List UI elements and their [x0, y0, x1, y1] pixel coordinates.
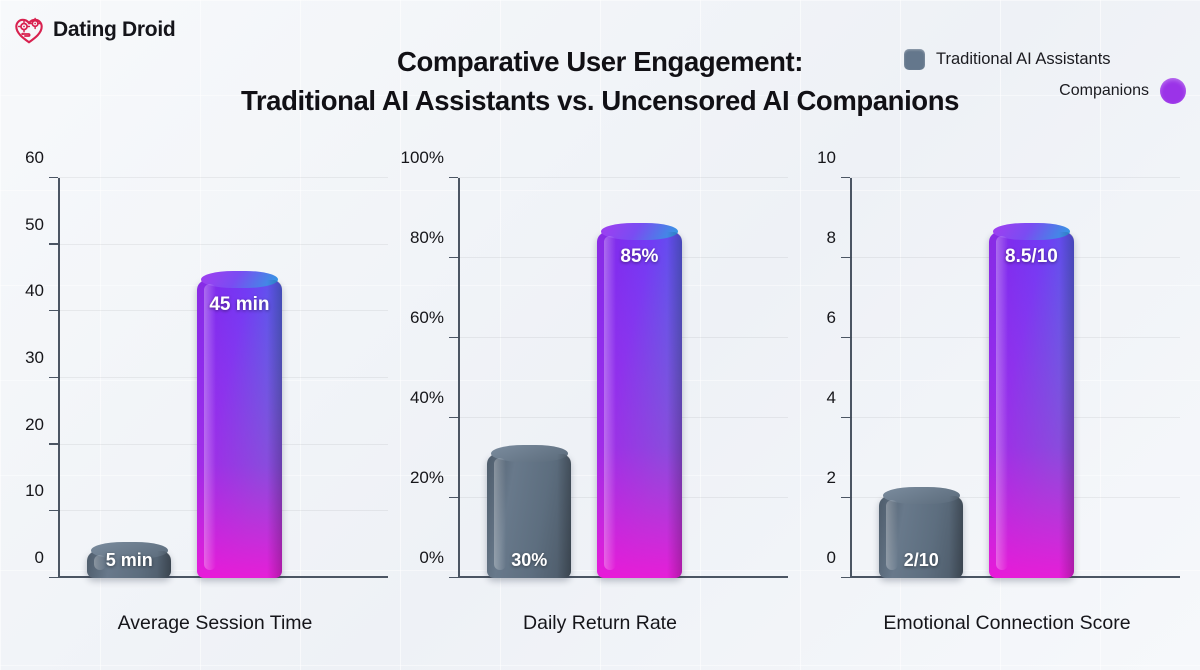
chart-panels: 0102030405060 5 min 45 min Averag — [0, 160, 1200, 660]
legend-item-traditional[interactable]: Traditional AI Assistants — [890, 44, 1190, 75]
chart-panel-average-session-time: 0102030405060 5 min 45 min Averag — [0, 160, 400, 660]
y-tick — [841, 497, 850, 498]
bar-top-face — [993, 223, 1071, 240]
y-tick-label: 0% — [419, 548, 444, 568]
y-tick — [841, 577, 850, 578]
bar-companions-1[interactable]: 45 min — [197, 280, 281, 578]
plot-area-2: 0%20%40%60%80%100% 30% 85% — [458, 178, 782, 578]
plot-area-1: 0102030405060 5 min 45 min — [58, 178, 382, 578]
y-tick-label: 0 — [35, 548, 44, 568]
bar-top-face — [883, 487, 961, 504]
bars-2: 30% 85% — [458, 178, 782, 578]
bar-top-face — [601, 223, 679, 240]
y-tick — [841, 417, 850, 418]
y-tick — [841, 257, 850, 258]
y-tick-label: 10 — [817, 148, 836, 168]
y-tick-label: 60 — [25, 148, 44, 168]
bar-body — [989, 232, 1073, 578]
y-tick-label: 40 — [25, 281, 44, 301]
brand-logo: Dating Droid — [14, 16, 175, 44]
y-tick — [449, 257, 458, 258]
y-tick — [449, 417, 458, 418]
y-tick-label: 20 — [25, 415, 44, 435]
category-label-1: Average Session Time — [0, 612, 400, 635]
y-tick — [49, 243, 58, 244]
legend-swatch-circle-icon — [1160, 78, 1186, 104]
bar-value-label: 45 min — [197, 294, 281, 316]
bars-3: 2/10 8.5/10 — [850, 178, 1174, 578]
bar-traditional-1[interactable]: 5 min — [87, 551, 171, 578]
y-tick-label: 30 — [25, 348, 44, 368]
y-tick — [841, 177, 850, 178]
bar-body — [197, 280, 281, 578]
y-tick — [49, 577, 58, 578]
y-tick — [49, 310, 58, 311]
bar-value-label: 2/10 — [879, 550, 963, 571]
y-tick — [841, 337, 850, 338]
y-tick-label: 2 — [827, 468, 836, 488]
y-tick — [449, 497, 458, 498]
y-tick-label: 0 — [827, 548, 836, 568]
chart-legend: Traditional AI Assistants Companions — [890, 44, 1190, 106]
category-label-2: Daily Return Rate — [400, 612, 800, 635]
y-tick-label: 80% — [410, 228, 444, 248]
legend-label-companions: Companions — [1059, 82, 1149, 100]
heart-gear-icon — [14, 16, 44, 44]
y-tick — [49, 177, 58, 178]
legend-item-companions[interactable]: Companions — [890, 75, 1190, 106]
bar-traditional-3[interactable]: 2/10 — [879, 496, 963, 578]
plot-area-3: 0246810 2/10 8.5/10 — [850, 178, 1174, 578]
bar-traditional-2[interactable]: 30% — [487, 454, 571, 578]
y-tick-label: 20% — [410, 468, 444, 488]
y-tick-label: 50 — [25, 215, 44, 235]
y-tick — [49, 510, 58, 511]
bar-body — [597, 232, 681, 578]
bar-top-face — [491, 445, 569, 462]
y-tick — [449, 177, 458, 178]
bar-companions-2[interactable]: 85% — [597, 232, 681, 578]
bar-value-label: 30% — [487, 550, 571, 571]
y-tick-label: 8 — [827, 228, 836, 248]
category-label-3: Emotional Connection Score — [800, 612, 1200, 635]
legend-label-traditional: Traditional AI Assistants — [936, 50, 1111, 69]
brand-name: Dating Droid — [53, 18, 175, 42]
y-tick — [49, 377, 58, 378]
y-tick — [449, 337, 458, 338]
bar-top-face — [201, 271, 279, 288]
chart-panel-daily-return-rate: 0%20%40%60%80%100% 30% 85% Daily — [400, 160, 800, 660]
bar-value-label: 5 min — [87, 550, 171, 571]
bar-companions-3[interactable]: 8.5/10 — [989, 232, 1073, 578]
legend-swatch-square-icon — [904, 49, 925, 70]
bars-1: 5 min 45 min — [58, 178, 382, 578]
y-tick — [449, 577, 458, 578]
y-tick-label: 6 — [827, 308, 836, 328]
y-tick — [49, 443, 58, 444]
y-tick-label: 10 — [25, 481, 44, 501]
chart-panel-emotional-connection-score: 0246810 2/10 8.5/10 Emotional Con — [800, 160, 1200, 660]
y-tick-label: 60% — [410, 308, 444, 328]
y-tick-label: 100% — [401, 148, 444, 168]
bar-value-label: 8.5/10 — [989, 246, 1073, 268]
y-tick-label: 4 — [827, 388, 836, 408]
bar-value-label: 85% — [597, 246, 681, 268]
y-tick-label: 40% — [410, 388, 444, 408]
